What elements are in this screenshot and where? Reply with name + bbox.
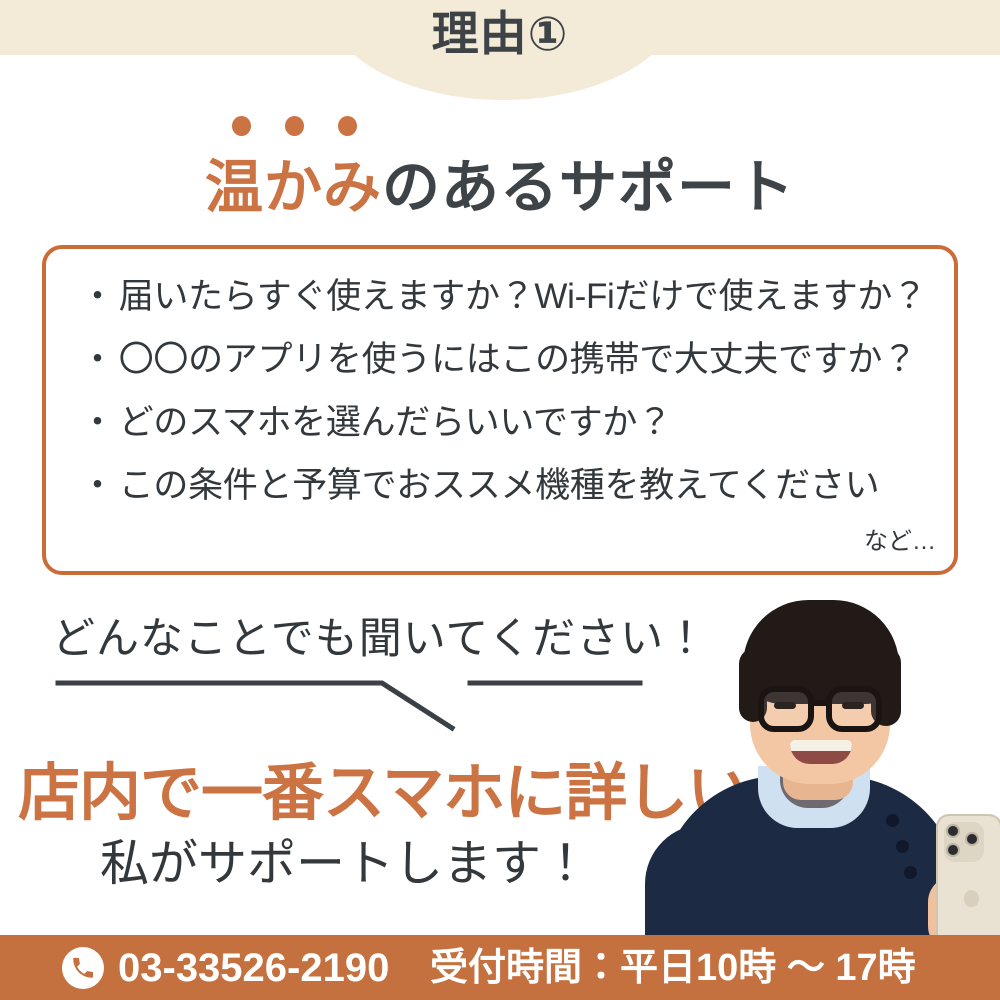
photo-glasses-right-lens <box>826 686 882 732</box>
section-title-highlight: 温かみ <box>205 155 382 220</box>
list-item: ・ 届いたらすぐ使えますか？Wi-Fiだけで使えますか？ <box>80 279 940 314</box>
list-item-label: どのスマホを選んだらいいですか？ <box>119 405 672 440</box>
photo-smartphone <box>936 814 1000 940</box>
invite-text: どんなことでも聞いてください！ <box>52 604 708 666</box>
camera-lens-icon <box>946 843 960 857</box>
photo-smile <box>790 740 852 764</box>
photo-hair-fringe <box>760 644 888 680</box>
photo-sweater-button <box>886 814 899 827</box>
photo-phone-camera-module <box>944 822 984 862</box>
bullet-icon: ・ <box>80 405 115 440</box>
apple-logo-icon <box>964 890 979 907</box>
headline-secondary: 私がサポートします！ <box>100 824 590 895</box>
list-item-label: 届いたらすぐ使えますか？Wi-Fiだけで使えますか？ <box>119 279 927 314</box>
phone-icon[interactable] <box>62 947 104 989</box>
photo-glasses-left-lens <box>758 686 814 732</box>
list-item-label: 〇〇のアプリを使うにはこの携帯で大丈夫ですか？ <box>119 342 917 377</box>
reason-badge-label: 理由① <box>0 9 1000 58</box>
staff-photo <box>640 588 1000 940</box>
phone-handset-glyph <box>70 955 96 981</box>
bullet-icon: ・ <box>80 468 115 503</box>
list-item: ・ この条件と予算でおススメ機種を教えてください <box>80 468 940 503</box>
bullet-icon: ・ <box>80 279 115 314</box>
emphasis-dot <box>285 116 304 136</box>
business-hours: 受付時間：平日10時 〜 17時 <box>430 946 916 990</box>
list-item: ・ 〇〇のアプリを使うにはこの携帯で大丈夫ですか？ <box>80 342 940 377</box>
photo-sweater-button <box>896 840 909 853</box>
phone-number[interactable]: 03-33526-2190 <box>118 945 389 991</box>
emphasis-dot <box>232 116 251 136</box>
question-box: ・ 届いたらすぐ使えますか？Wi-Fiだけで使えますか？ ・ 〇〇のアプリを使う… <box>42 245 958 575</box>
photo-eye-left <box>774 702 796 709</box>
underline-decoration-icon <box>40 660 660 740</box>
poster-canvas: 理由① 温かみのあるサポート ・ 届いたらすぐ使えますか？Wi-Fiだけで使えま… <box>0 0 1000 1000</box>
photo-glasses-bridge <box>813 700 828 706</box>
question-list-note: など… <box>864 521 936 556</box>
emphasis-dot <box>338 116 357 136</box>
headline-primary: 店内で一番スマホに詳しい <box>18 742 748 832</box>
photo-sweater-button <box>904 866 917 879</box>
emphasis-dots-icon <box>232 116 372 136</box>
bullet-icon: ・ <box>80 342 115 377</box>
camera-lens-icon <box>946 824 960 838</box>
section-title: 温かみのあるサポート <box>0 140 1000 224</box>
list-item: ・ どのスマホを選んだらいいですか？ <box>80 405 940 440</box>
list-item-label: この条件と予算でおススメ機種を教えてください <box>119 468 880 503</box>
photo-eye-right <box>842 702 864 709</box>
camera-lens-icon <box>965 832 979 846</box>
photo-teeth <box>790 740 852 751</box>
section-title-rest: のあるサポート <box>382 155 795 220</box>
question-list: ・ 届いたらすぐ使えますか？Wi-Fiだけで使えますか？ ・ 〇〇のアプリを使う… <box>80 279 940 531</box>
contact-footer-bar: 03-33526-2190 受付時間：平日10時 〜 17時 <box>0 935 1000 1000</box>
